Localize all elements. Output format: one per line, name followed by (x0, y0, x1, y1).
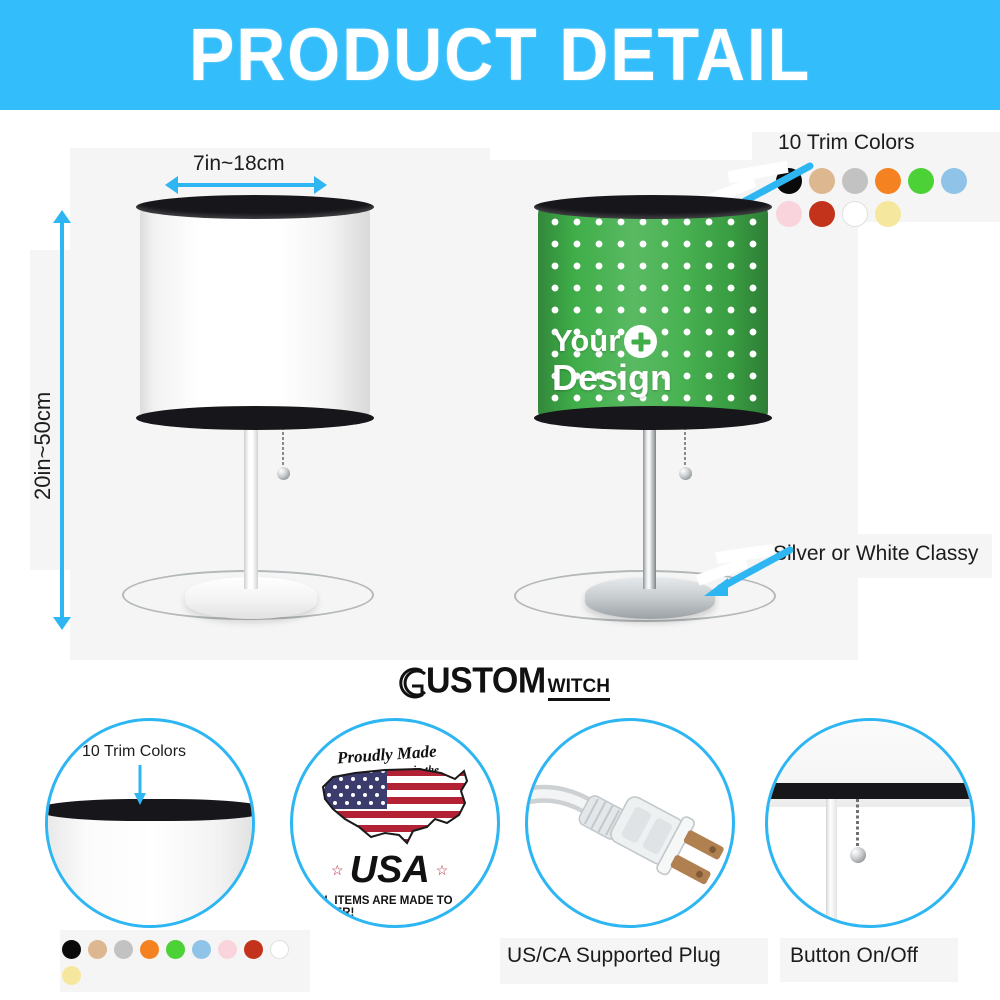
arrow-shaft (60, 220, 64, 620)
shade-surface: Your Design (538, 207, 768, 418)
shade-design-text: Your Design (552, 325, 754, 395)
trim-swatch-green[interactable] (908, 168, 934, 194)
width-dimension-label: 7in~18cm (193, 152, 285, 176)
pull-chain-ball[interactable] (679, 467, 692, 480)
pull-chain-ball[interactable] (277, 467, 290, 480)
shade-trim-top (136, 195, 374, 219)
trim-swatch-orange[interactable] (140, 940, 159, 959)
logo-primary-text: USTOM (426, 663, 546, 699)
trim-swatch-green[interactable] (166, 940, 185, 959)
shade-fragment (45, 809, 255, 928)
page-title: PRODUCT DETAIL (189, 18, 811, 92)
trim-colors-label-inner: 10 Trim Colors (82, 743, 186, 761)
base-finish-pointer-arrow (690, 540, 800, 610)
arrow-head-right (314, 176, 327, 194)
plus-circle-icon (624, 325, 657, 358)
base-finish-label: Silver or White Classy (773, 542, 978, 566)
lamp-pole-fragment (826, 799, 837, 928)
feature-circle-plug (525, 718, 735, 928)
pull-chain[interactable] (856, 799, 859, 851)
lamp-pole (643, 417, 656, 589)
logo-c-mark (392, 664, 430, 702)
lamp-white (130, 195, 380, 645)
usa-badge-big-row: ☆ USA ☆ (331, 849, 448, 892)
lamp-shade (140, 195, 370, 430)
trim-swatch-white[interactable] (842, 201, 868, 227)
shade-trim-top (534, 195, 772, 219)
trim-colors-down-arrow (130, 765, 150, 807)
design-text-line1: Your (552, 326, 620, 356)
pull-chain-ball[interactable] (850, 847, 866, 863)
lamp-pole (244, 417, 258, 589)
feature-circle-trim-colors: 10 Trim Colors (45, 718, 255, 928)
usa-map-flag-icon (315, 757, 483, 857)
width-dimension-arrow (165, 176, 327, 194)
arrow-shaft (175, 183, 317, 187)
lamp-shade: Your Design (538, 195, 768, 430)
star-icon: ☆ (436, 862, 449, 879)
trim-swatch-gray[interactable] (842, 168, 868, 194)
trim-swatch-black[interactable] (62, 940, 81, 959)
trim-swatch-yellow[interactable] (62, 966, 81, 985)
design-text-line2: Design (552, 360, 754, 395)
shade-surface (140, 207, 370, 418)
height-dimension-label: 20in~50cm (30, 392, 56, 500)
brand-logo: USTOM WITCH (392, 664, 610, 702)
shade-trim-bottom (136, 406, 374, 430)
feature-circle-made-in-usa: Proudly Made in the (290, 718, 500, 928)
trim-swatch-light-blue[interactable] (192, 940, 211, 959)
plug-caption: US/CA Supported Plug (507, 944, 721, 968)
shade-trim-bottom (534, 406, 772, 430)
trim-swatch-yellow[interactable] (875, 201, 901, 227)
switch-caption: Button On/Off (790, 944, 918, 968)
trim-color-swatches-bottom[interactable] (62, 940, 312, 992)
usa-badge-sub: ALL ITEMS ARE MADE TO ORDER! (309, 895, 497, 919)
shade-trim-black-band (45, 799, 255, 821)
trim-swatch-pink[interactable] (218, 940, 237, 959)
trim-swatch-gray[interactable] (114, 940, 133, 959)
arrow-head-bottom (53, 617, 71, 630)
trim-swatch-red[interactable] (244, 940, 263, 959)
star-icon: ☆ (331, 862, 344, 879)
power-plug-icon (530, 761, 735, 901)
feature-circle-switch (765, 718, 975, 928)
header-banner: PRODUCT DETAIL (0, 0, 1000, 110)
shade-trim-black-band (765, 783, 975, 799)
trim-colors-label-top: 10 Trim Colors (778, 131, 915, 155)
trim-swatch-light-blue[interactable] (941, 168, 967, 194)
usa-badge-big: USA (350, 849, 430, 892)
product-detail-page: PRODUCT DETAIL 10 Trim Colors 7in~18cm 2… (0, 0, 1000, 1000)
usa-badge: Proudly Made in the (293, 721, 497, 925)
trim-swatch-orange[interactable] (875, 168, 901, 194)
trim-swatch-white[interactable] (270, 940, 289, 959)
logo-secondary-text: WITCH (548, 677, 610, 701)
trim-swatch-tan[interactable] (88, 940, 107, 959)
